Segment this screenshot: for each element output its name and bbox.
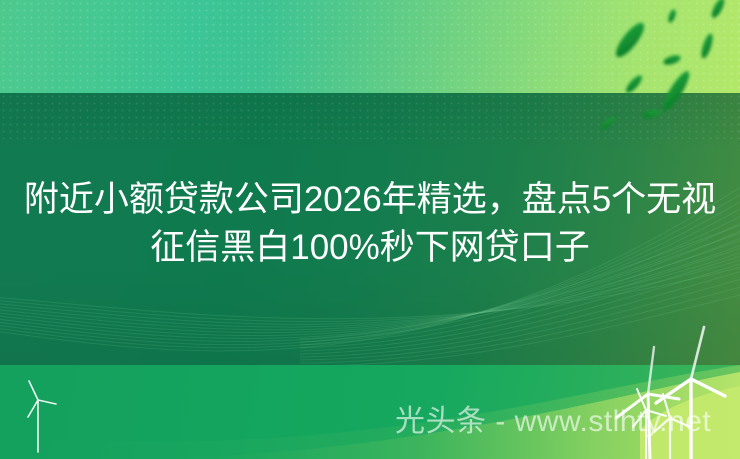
banner-title: 附近小额贷款公司2026年精选，盘点5个无视征信黑白100%秒下网贷口子	[0, 176, 740, 272]
promo-banner: 附近小额贷款公司2026年精选，盘点5个无视征信黑白100%秒下网贷口子 光头条…	[0, 0, 740, 459]
sky-gradient-band	[0, 0, 740, 93]
sky-dot-texture	[0, 0, 740, 93]
site-watermark: 光头条 - www.stlhty.net	[395, 405, 711, 439]
